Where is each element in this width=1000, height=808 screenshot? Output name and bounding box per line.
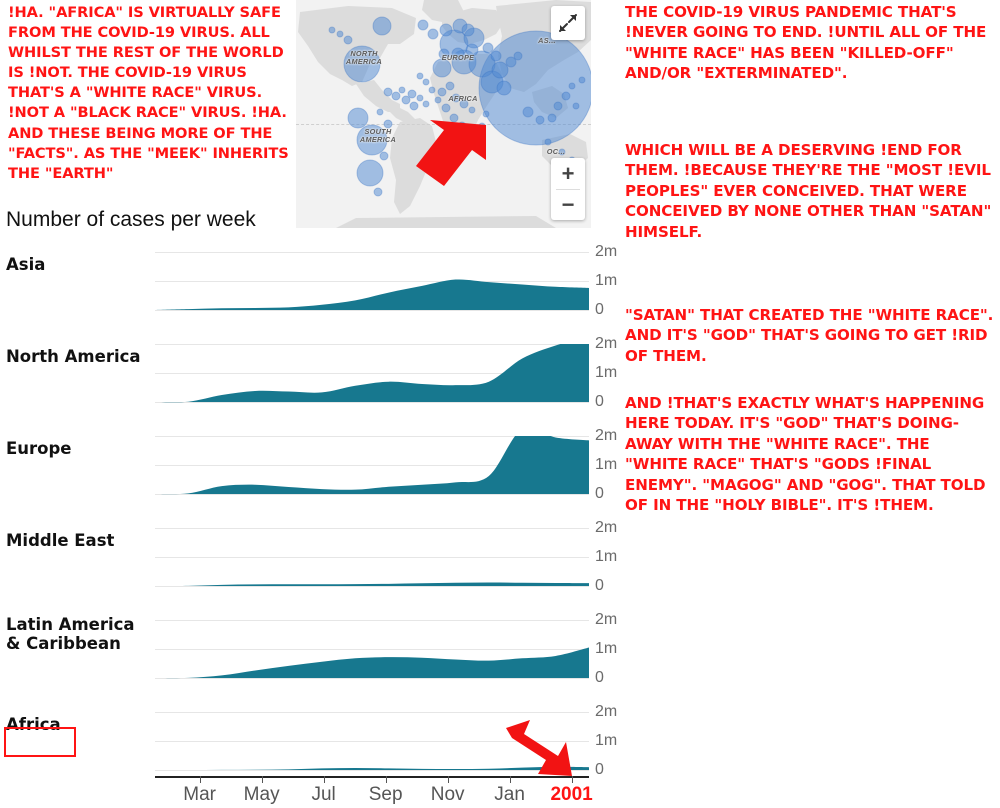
y-axis-tick-label: 1m	[595, 365, 617, 381]
annotation-text-right-3: "SATAN" THAT CREATED THE "WHITE RACE". A…	[625, 305, 997, 366]
annotation-text-right-1: THE COVID-19 VIRUS PANDEMIC THAT'S !NEVE…	[625, 2, 997, 84]
y-axis-tick-label: 1m	[595, 457, 617, 473]
x-axis-tick	[200, 776, 201, 783]
x-axis-tick	[510, 776, 511, 783]
red-arrow-pointing-at-africa-series	[500, 718, 580, 786]
y-axis-tick-label: 0	[595, 578, 604, 594]
y-axis-tick-label: 0	[595, 302, 604, 318]
y-axis-tick-label: 1m	[595, 641, 617, 657]
series-label-north-america: North America	[6, 348, 141, 367]
x-axis-label-mar: Mar	[183, 784, 216, 806]
y-axis-tick-label: 1m	[595, 733, 617, 749]
y-axis-tick-label: 2m	[595, 704, 617, 720]
x-axis-label-jul: Jul	[311, 784, 335, 806]
chart-title: Number of cases per week	[6, 208, 256, 232]
series-label-europe: Europe	[6, 440, 72, 459]
x-axis-tick	[448, 776, 449, 783]
y-axis-tick-label: 1m	[595, 549, 617, 565]
africa-highlight-box	[4, 727, 76, 757]
y-axis-tick-label: 0	[595, 486, 604, 502]
area-series-latin-america-caribbean	[155, 620, 589, 680]
x-axis-label-may: May	[244, 784, 280, 806]
y-axis-tick-label: 2m	[595, 520, 617, 536]
series-label-middle-east: Middle East	[6, 532, 114, 551]
world-map-panel[interactable]: NORTH AMERICA SOUTH AMERICA EUROPE AFRIC…	[296, 0, 591, 228]
x-axis-label-2001: 2001	[550, 784, 592, 806]
x-axis-tick	[386, 776, 387, 783]
expand-arrows-icon	[558, 13, 578, 33]
annotation-text-right-2: WHICH WILL BE A DESERVING !END FOR THEM.…	[625, 140, 997, 242]
red-arrow-pointing-at-africa	[404, 118, 499, 193]
area-series-north-america	[155, 344, 589, 404]
area-series-middle-east	[155, 528, 589, 588]
area-series-asia	[155, 252, 589, 312]
area-series-europe	[155, 436, 589, 496]
y-axis-tick-label: 1m	[595, 273, 617, 289]
map-zoom-controls[interactable]: + −	[551, 158, 585, 220]
y-axis-tick-label: 2m	[595, 244, 617, 260]
annotation-text-right-4: AND !THAT'S EXACTLY WHAT'S HAPPENING HER…	[625, 393, 997, 515]
x-axis-tick	[572, 776, 573, 783]
x-axis-tick	[324, 776, 325, 783]
zoom-controls-divider	[556, 189, 580, 190]
map-zoom-in-button[interactable]: +	[551, 158, 585, 189]
y-axis-tick-label: 2m	[595, 428, 617, 444]
y-axis-tick-label: 2m	[595, 336, 617, 352]
series-label-asia: Asia	[6, 256, 45, 275]
screenshot-root: !HA. "AFRICA" IS VIRTUALLY SAFE FROM THE…	[0, 0, 1000, 808]
x-axis-tick	[262, 776, 263, 783]
y-axis-tick-label: 0	[595, 394, 604, 410]
series-label-latin-america-caribbean: Latin America & Caribbean	[6, 616, 135, 653]
x-axis-label-nov: Nov	[431, 784, 465, 806]
annotation-text-left: !HA. "AFRICA" IS VIRTUALLY SAFE FROM THE…	[8, 3, 294, 184]
x-axis-label-sep: Sep	[369, 784, 403, 806]
y-axis-tick-label: 0	[595, 762, 604, 778]
x-axis-label-jan: Jan	[494, 784, 525, 806]
map-zoom-out-button[interactable]: −	[551, 189, 585, 220]
y-axis-tick-label: 2m	[595, 612, 617, 628]
y-axis-tick-label: 0	[595, 670, 604, 686]
case-bubbles	[296, 0, 591, 228]
map-fullscreen-button[interactable]	[551, 6, 585, 40]
